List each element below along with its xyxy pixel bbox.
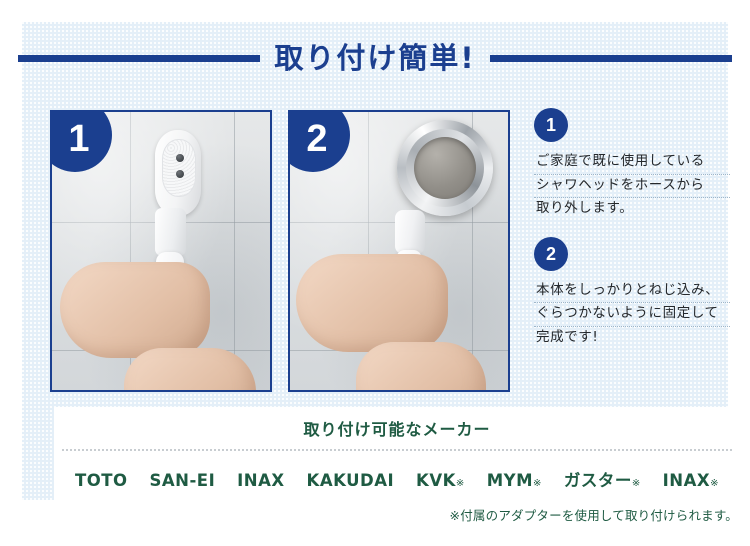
hand-lower-1 [124, 348, 256, 392]
makers-list: TOTO SAN-EI INAX KAKUDAI KVK※ MYM※ ガスター※… [54, 451, 740, 491]
maker-name: KAKUDAI [307, 471, 395, 490]
maker-name: MYM [487, 471, 533, 490]
step-badge-2: 2 [534, 237, 568, 271]
nozzle-icon [176, 170, 184, 178]
instruction-step-1: 1 ご家庭で既に使用している シャワヘッドをホースから 取り外します。 [534, 108, 730, 221]
maker-item: KAKUDAI [296, 471, 406, 490]
step-photo-1: 1 [50, 110, 272, 392]
step-text-line: 完成です! [534, 327, 730, 350]
title-rule-left [18, 55, 260, 62]
shower-face-1 [162, 139, 196, 197]
makers-title: 取り付け可能なメーカー [54, 407, 740, 440]
maker-name: KVK [416, 471, 456, 490]
hand-upper-2 [296, 254, 448, 352]
maker-name: TOTO [75, 471, 128, 490]
maker-name: ガスター [564, 471, 632, 490]
maker-name: INAX [237, 471, 284, 490]
maker-item: INAX※ [652, 471, 730, 490]
hand-lower-2 [356, 342, 486, 392]
compatible-makers-panel: 取り付け可能なメーカー TOTO SAN-EI INAX KAKUDAI KVK… [54, 407, 740, 505]
maker-note: ※ [632, 478, 641, 489]
instruction-step-2: 2 本体をしっかりとねじ込み、 ぐらつかないように固定して 完成です! [534, 237, 730, 350]
step-photo-2: 2 [288, 110, 510, 392]
maker-item: INAX [226, 471, 295, 490]
maker-item: SAN-EI [139, 471, 227, 490]
maker-item: ガスター※ [553, 467, 652, 491]
step-text-line: ぐらつかないように固定して [534, 303, 730, 327]
hand-upper-1 [60, 262, 210, 358]
shower-neck-2 [395, 210, 425, 254]
maker-item: MYM※ [476, 471, 553, 490]
step-badge-1: 1 [534, 108, 568, 142]
shower-neck-1 [155, 208, 186, 256]
nozzle-icon [176, 154, 184, 162]
maker-note: ※ [533, 478, 542, 489]
infographic-root: 取り付け簡単! 1 [0, 0, 750, 546]
maker-name: SAN-EI [149, 471, 215, 490]
instruction-list: 1 ご家庭で既に使用している シャワヘッドをホースから 取り外します。 2 本体… [534, 108, 730, 365]
title-row: 取り付け簡単! [22, 32, 728, 84]
maker-note: ※ [710, 478, 719, 489]
shower-head-round [397, 120, 493, 216]
maker-note: ※ [456, 478, 465, 489]
maker-item: TOTO [64, 471, 139, 490]
maker-item: KVK※ [405, 471, 476, 490]
step-text-line: 本体をしっかりとねじ込み、 [534, 280, 730, 304]
step-text-line: 取り外します。 [534, 198, 730, 221]
content-panel: 取り付け簡単! 1 [22, 22, 728, 500]
step-text-line: シャワヘッドをホースから [534, 175, 730, 199]
step-text-line: ご家庭で既に使用している [534, 151, 730, 175]
footnote: ※付属のアダプターを使用して取り付けられます。 [450, 505, 738, 524]
title-rule-right [490, 55, 732, 62]
shower-head-white [155, 130, 201, 216]
maker-name: INAX [663, 471, 710, 490]
page-title: 取り付け簡単! [274, 44, 475, 73]
